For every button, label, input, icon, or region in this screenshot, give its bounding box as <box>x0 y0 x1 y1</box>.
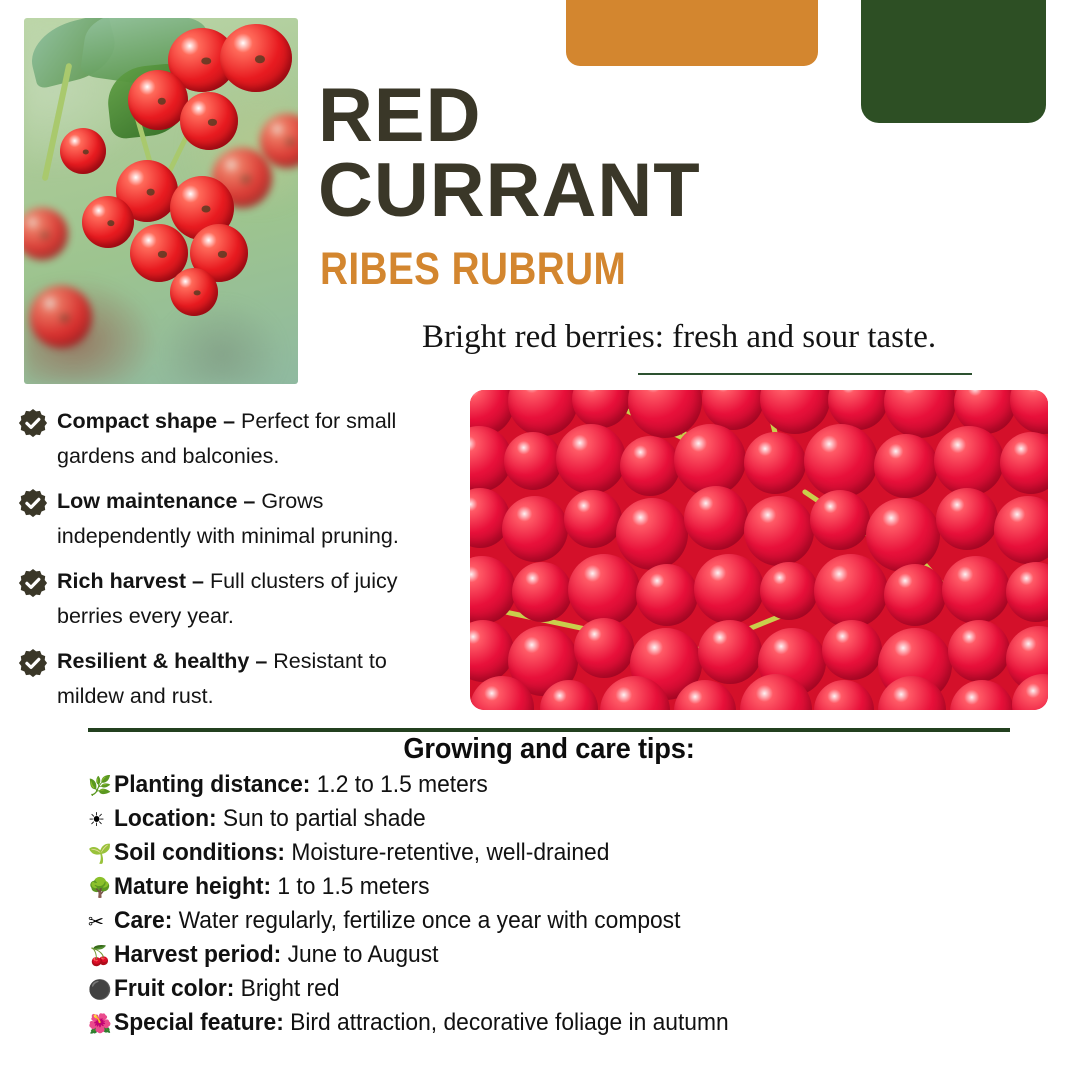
decorative-orange-block <box>566 0 818 66</box>
seedling-icon: 🌱 <box>88 838 114 871</box>
berry <box>220 24 292 92</box>
tip-text: Special feature: Bird attraction, decora… <box>114 1006 729 1039</box>
tip-text: Care: Water regularly, fertilize once a … <box>114 904 680 937</box>
herb-icon: 🌿 <box>88 770 114 803</box>
tip-row-mature-height: 🌳 Mature height: 1 to 1.5 meters <box>88 870 1048 903</box>
hero-photo-red-currant-branch <box>24 18 298 384</box>
berry <box>180 92 238 150</box>
tip-text: Harvest period: June to August <box>114 938 438 971</box>
title-line-2: CURRANT <box>318 153 1018 228</box>
check-badge-icon <box>18 488 48 518</box>
check-badge-icon <box>18 408 48 438</box>
tips-list: 🌿 Planting distance: 1.2 to 1.5 meters ☀… <box>88 768 1048 1040</box>
list-item: Compact shape – Perfect for small garden… <box>18 404 458 474</box>
tip-value: Water regularly, fertilize once a year w… <box>172 907 680 934</box>
list-item-title: Low maintenance – <box>57 489 255 513</box>
tips-heading: Growing and care tips: <box>116 733 983 766</box>
tree-icon: 🌳 <box>88 872 114 905</box>
list-item-text: Compact shape – Perfect for small garden… <box>57 404 458 474</box>
list-item-text: Rich harvest – Full clusters of juicy be… <box>57 564 458 634</box>
tip-value: Moisture-retentive, well-drained <box>285 839 609 866</box>
tip-row-fruit-color: ⚫ Fruit color: Bright red <box>88 972 1048 1005</box>
list-item-title: Compact shape – <box>57 409 235 433</box>
list-item-text: Low maintenance – Grows independently wi… <box>57 484 458 554</box>
berry-cluster <box>470 390 1048 710</box>
tip-value: June to August <box>281 941 438 968</box>
benefits-list: Compact shape – Perfect for small garden… <box>18 404 458 724</box>
list-item-title: Rich harvest – <box>57 569 204 593</box>
tips-divider <box>88 728 1010 732</box>
check-badge-icon <box>18 568 48 598</box>
page-title: RED CURRANT <box>318 78 1018 228</box>
list-item-text: Resilient & healthy – Resistant to milde… <box>57 644 458 714</box>
list-item: Low maintenance – Grows independently wi… <box>18 484 458 554</box>
berry <box>170 268 218 316</box>
tip-label: Planting distance: <box>114 771 310 798</box>
tip-row-planting-distance: 🌿 Planting distance: 1.2 to 1.5 meters <box>88 768 1048 801</box>
tip-text: Planting distance: 1.2 to 1.5 meters <box>114 768 488 801</box>
tip-label: Fruit color: <box>114 975 234 1002</box>
tip-value: Sun to partial shade <box>217 805 426 832</box>
tagline: Bright red berries: fresh and sour taste… <box>422 319 1022 356</box>
list-item-title: Resilient & healthy – <box>57 649 267 673</box>
tip-label: Harvest period: <box>114 941 281 968</box>
tip-row-care: ✂ Care: Water regularly, fertilize once … <box>88 904 1048 937</box>
tip-row-special-feature: 🌺 Special feature: Bird attraction, deco… <box>88 1006 1048 1039</box>
tip-row-harvest-period: 🍒 Harvest period: June to August <box>88 938 1048 971</box>
tip-text: Fruit color: Bright red <box>114 972 340 1005</box>
title-line-1: RED <box>318 78 1018 153</box>
berry <box>128 70 188 130</box>
berry <box>30 286 92 348</box>
list-item: Rich harvest – Full clusters of juicy be… <box>18 564 458 634</box>
tagline-divider <box>638 373 972 375</box>
tip-text: Mature height: 1 to 1.5 meters <box>114 870 429 903</box>
botanical-name: RIBES RUBRUM <box>320 243 626 295</box>
tip-value: 1 to 1.5 meters <box>271 873 429 900</box>
poster-canvas: RED CURRANT RIBES RUBRUM Bright red berr… <box>0 0 1080 1080</box>
berry <box>60 128 106 174</box>
tip-value: Bird attraction, decorative foliage in a… <box>284 1009 729 1036</box>
berry <box>82 196 134 248</box>
tip-text: Location: Sun to partial shade <box>114 802 426 835</box>
tip-label: Mature height: <box>114 873 271 900</box>
hibiscus-icon: 🌺 <box>88 1008 114 1041</box>
tip-row-soil-conditions: 🌱 Soil conditions: Moisture-retentive, w… <box>88 836 1048 869</box>
tip-label: Care: <box>114 907 172 934</box>
tip-value: 1.2 to 1.5 meters <box>310 771 487 798</box>
berries-photo-harvest <box>470 390 1048 710</box>
tip-text: Soil conditions: Moisture-retentive, wel… <box>114 836 609 869</box>
check-badge-icon <box>18 648 48 678</box>
circle-icon: ⚫ <box>88 974 114 1007</box>
list-item: Resilient & healthy – Resistant to milde… <box>18 644 458 714</box>
tip-label: Special feature: <box>114 1009 284 1036</box>
tip-label: Soil conditions: <box>114 839 285 866</box>
tip-row-location: ☀ Location: Sun to partial shade <box>88 802 1048 835</box>
sun-icon: ☀ <box>88 804 114 837</box>
tip-label: Location: <box>114 805 217 832</box>
scissors-icon: ✂ <box>88 906 114 939</box>
tip-value: Bright red <box>234 975 339 1002</box>
cherries-icon: 🍒 <box>88 940 114 973</box>
